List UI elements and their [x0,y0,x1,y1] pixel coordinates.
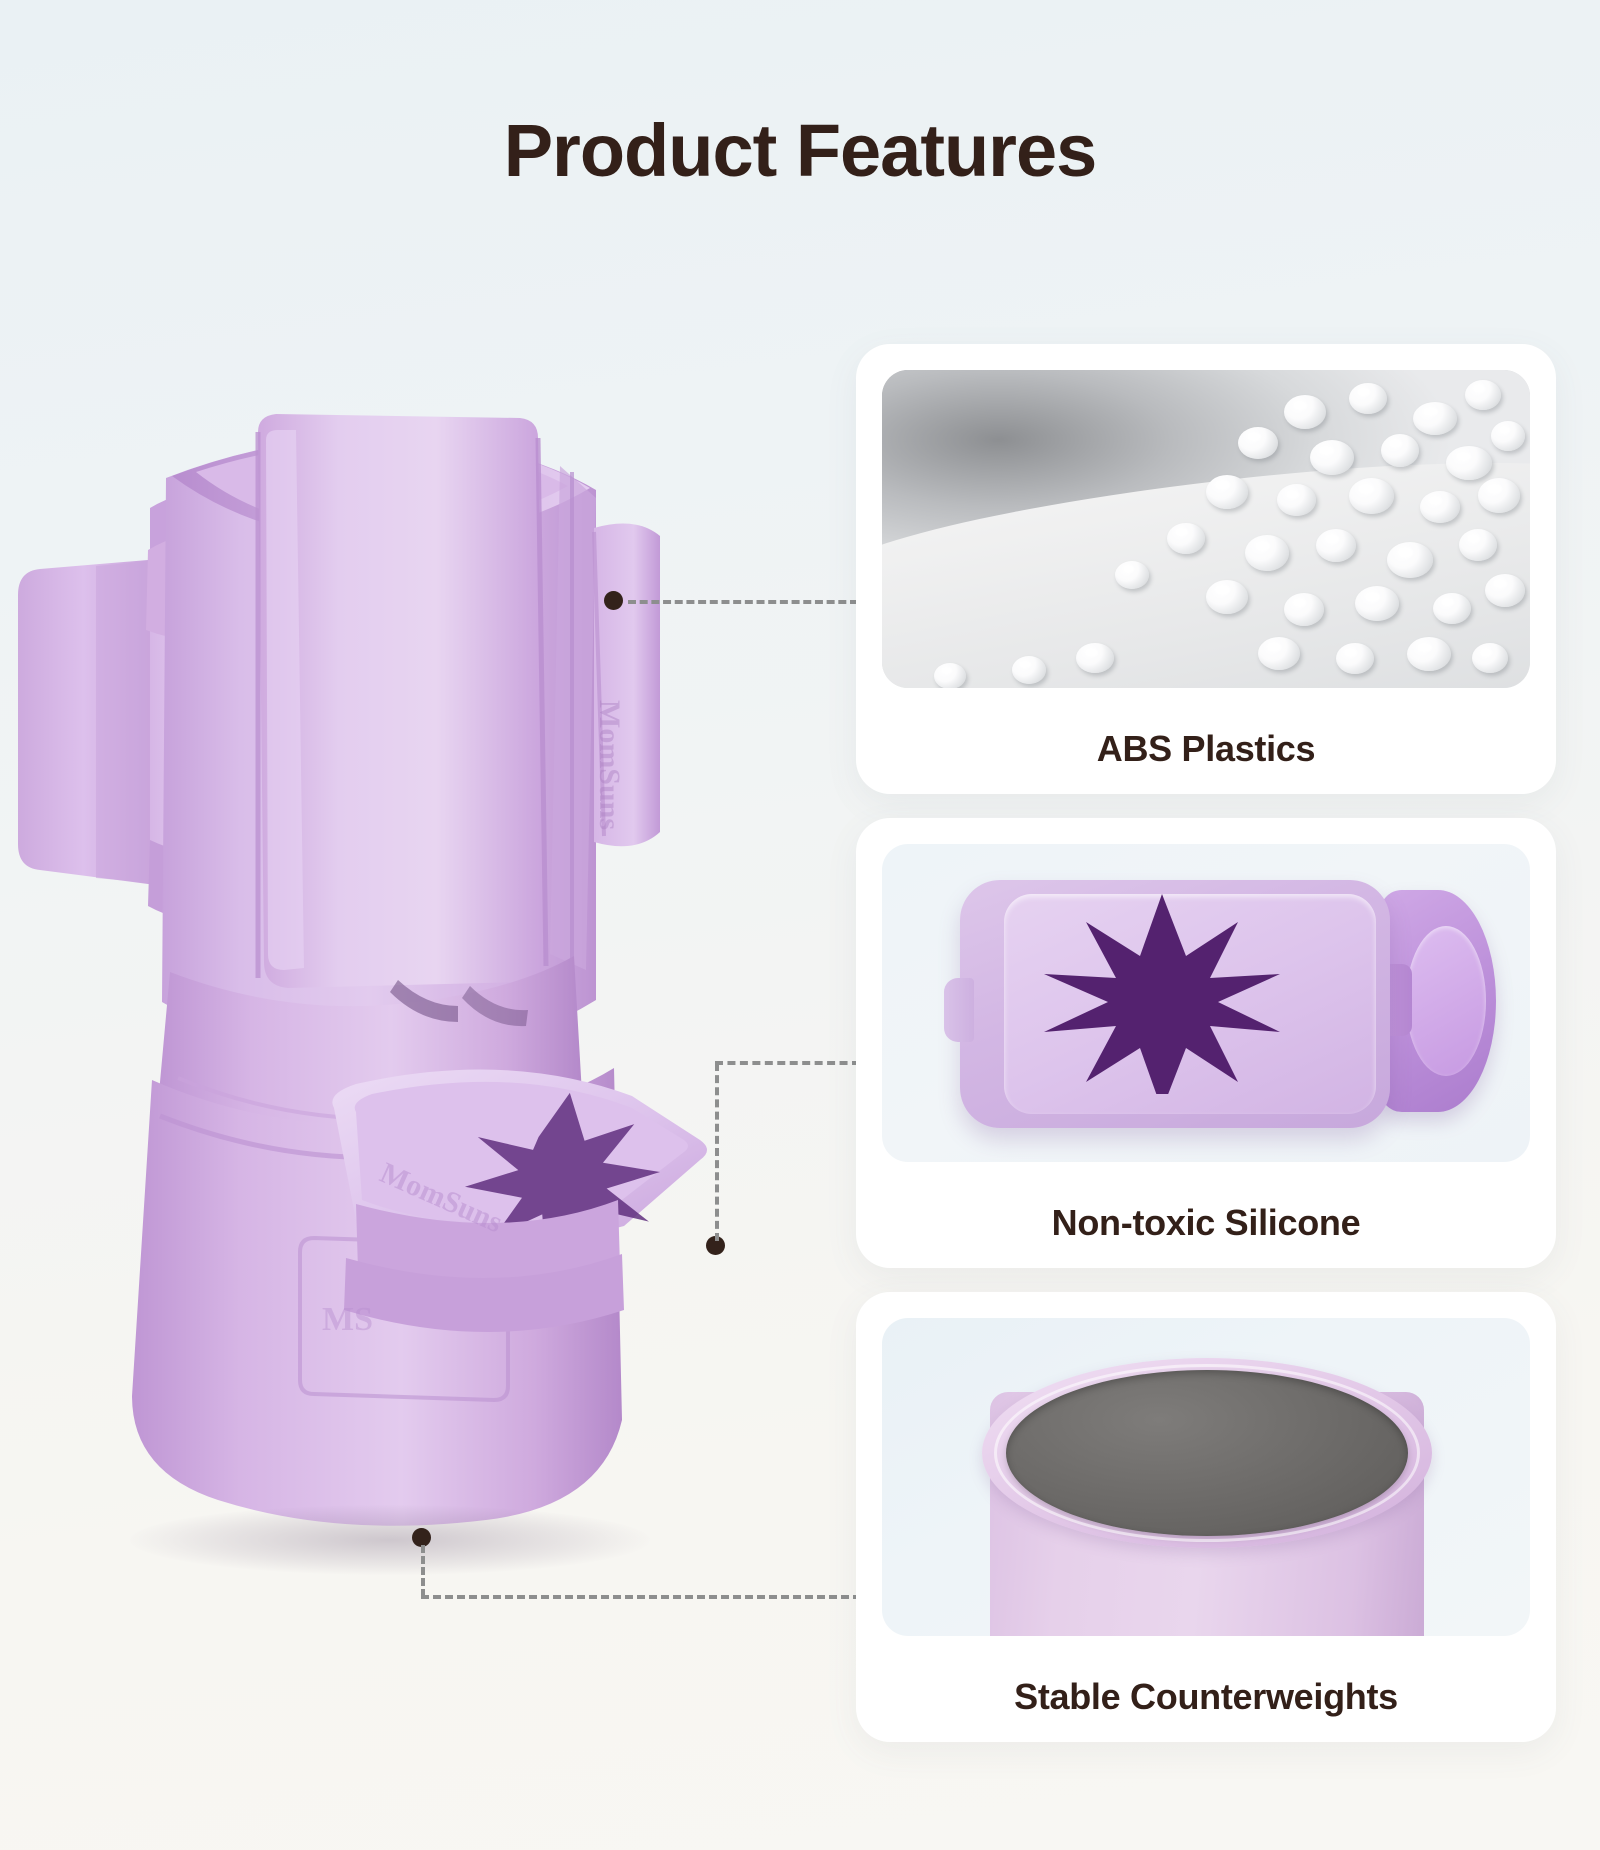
product-cup [162,414,596,1058]
connector-abs-dot [604,591,623,610]
non-toxic-silicone-image [882,844,1530,1162]
connector-counterweights-line-horizontal [421,1595,861,1599]
connector-silicone-line-vertical [715,1063,719,1241]
counterweight-disc-edge [994,1364,1420,1542]
silicone-valve-photo [882,844,1530,1162]
card-label-stable-counterweights: Stable Counterweights [856,1658,1556,1736]
feature-card-abs-plastics[interactable]: ABS Plastics [856,344,1556,794]
product-drip-tray [332,1070,707,1332]
silicone-star-valve [1032,884,1292,1094]
abs-plastics-image [882,370,1530,688]
brand-emboss-base: MS [322,1301,373,1338]
page-title: Product Features [0,108,1600,193]
brand-emboss-wing: MomSuns [593,700,626,830]
counterweight-photo [882,1318,1530,1636]
stable-counterweights-image [882,1318,1530,1636]
card-label-abs-plastics: ABS Plastics [856,710,1556,788]
feature-card-non-toxic-silicone[interactable]: Non-toxic Silicone [856,818,1556,1268]
feature-card-stable-counterweights[interactable]: Stable Counterweights [856,1292,1556,1742]
silicone-lid-tab [944,978,974,1042]
card-label-non-toxic-silicone: Non-toxic Silicone [856,1184,1556,1262]
connector-counterweights-line-vertical [421,1545,425,1597]
product-image: MomSuns MomSuns MS [0,380,760,1580]
connector-abs-line [628,600,858,604]
plastic-pellets-photo [882,370,1530,688]
product-illustration: MomSuns MomSuns MS [0,380,760,1580]
silicone-hinge [1380,890,1496,1112]
product-drop-shadow [130,1505,650,1575]
connector-silicone-line-horizontal [715,1061,860,1065]
